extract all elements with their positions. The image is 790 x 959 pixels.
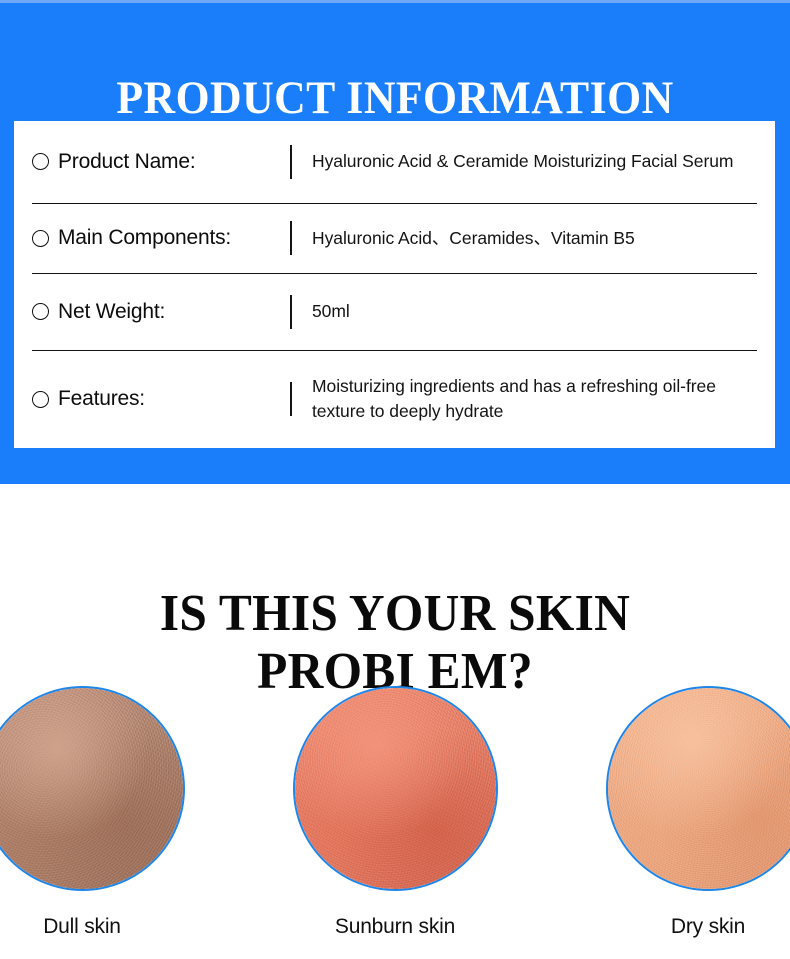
spec-label: Product Name: [58,150,195,174]
hollow-circle-icon [32,303,49,320]
sunburn-skin-texture [293,686,498,891]
page-title: PRODUCT INFORMATION [28,75,763,122]
spec-label-cell: Main Components: [32,203,290,273]
table-row: Product Name: Hyaluronic Acid & Ceramide… [32,121,757,203]
spec-value: 50ml [312,299,757,324]
spec-label: Features: [58,387,145,411]
skin-type-gallery: Dull skin Sunburn skin Dry skin [0,670,790,955]
hollow-circle-icon [32,391,49,408]
spec-value-cell: Hyaluronic Acid & Ceramide Moisturizing … [290,121,757,203]
spec-value: Moisturizing ingredients and has a refre… [312,374,757,424]
spec-value: Hyaluronic Acid、Ceramides、Vitamin B5 [312,226,757,251]
spec-value-cell: Hyaluronic Acid、Ceramides、Vitamin B5 [290,203,757,273]
spec-label: Net Weight: [58,300,165,324]
hollow-circle-icon [32,153,49,170]
table-row: Net Weight: 50ml [32,273,757,350]
table-row: Main Components: Hyaluronic Acid、Ceramid… [32,203,757,273]
spec-value-cell: 50ml [290,273,757,350]
dull-skin-texture [0,686,185,891]
spec-value: Hyaluronic Acid & Ceramide Moisturizing … [312,149,757,174]
spec-value-cell: Moisturizing ingredients and has a refre… [290,350,757,448]
product-information-section: PRODUCT INFORMATION Product Name: Hyalur… [0,3,790,484]
table-row: Features: Moisturizing ingredients and h… [32,350,757,448]
spec-label-cell: Net Weight: [32,273,290,350]
skin-type-caption: Dry skin [671,915,745,939]
skin-type-caption: Dull skin [43,915,121,939]
dry-skin-texture [606,686,790,891]
hollow-circle-icon [32,230,49,247]
heading-line-1: IS THIS YOUR SKIN [20,585,771,643]
spec-label-cell: Product Name: [32,121,290,203]
skin-type-card-dull: Dull skin [0,686,185,939]
spec-label-cell: Features: [32,350,290,448]
skin-type-card-sunburn: Sunburn skin [293,686,498,939]
product-information-card: Product Name: Hyaluronic Acid & Ceramide… [14,121,775,448]
skin-type-card-dry: Dry skin [606,686,790,939]
product-spec-table: Product Name: Hyaluronic Acid & Ceramide… [32,121,757,448]
spec-label: Main Components: [58,226,231,250]
skin-problem-section: IS THIS YOUR SKIN PROBI EM? Dull skin Su… [0,484,790,959]
skin-type-caption: Sunburn skin [335,915,455,939]
